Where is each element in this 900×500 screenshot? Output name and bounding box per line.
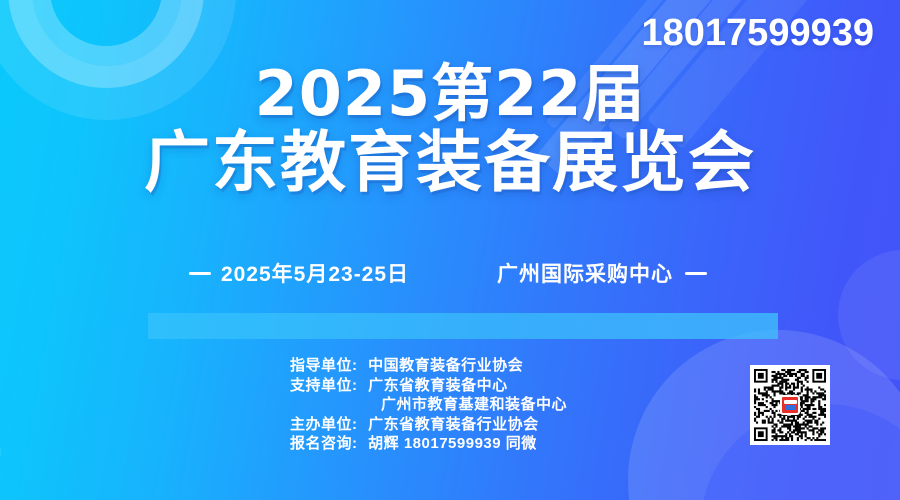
info-value: 广东省教育装备行业协会	[368, 415, 539, 435]
info-value: 广东省教育装备中心	[368, 376, 508, 396]
info-line-guidance: 指导单位: 中国教育装备行业协会	[290, 356, 567, 376]
info-label: 报名咨询:	[290, 434, 358, 454]
qr-code[interactable]	[750, 365, 830, 445]
dash-right-icon	[685, 272, 707, 275]
info-line-support-2: 广州市教育基建和装备中心	[290, 395, 567, 415]
info-line-support: 支持单位: 广东省教育装备中心	[290, 376, 567, 396]
info-label: 支持单位:	[290, 376, 358, 396]
event-poster: 18017599939 2025第22届 广东教育装备展览会 2025年5月23…	[0, 0, 900, 500]
decor-cyan-band	[148, 313, 778, 339]
poster-title: 2025第22届 广东教育装备展览会	[0, 62, 900, 200]
dash-right-wrap	[685, 261, 711, 285]
title-line-name: 广东教育装备展览会	[0, 126, 900, 200]
info-label: 指导单位:	[290, 356, 358, 376]
event-venue: 广州国际采购中心	[497, 258, 673, 288]
event-date: 2025年5月23-25日	[221, 258, 409, 288]
info-value: 广州市教育基建和装备中心	[381, 395, 567, 415]
event-meta-row: 2025年5月23-25日 广州国际采购中心	[0, 258, 900, 288]
dash-left-icon	[189, 272, 211, 275]
info-line-registration: 报名咨询: 胡辉 18017599939 同微	[290, 434, 567, 454]
title-line-edition: 2025第22届	[0, 62, 900, 126]
decor-capsule-bottom-left	[0, 408, 13, 500]
info-value: 胡辉 18017599939 同微	[368, 434, 537, 454]
info-label: 主办单位:	[290, 415, 358, 435]
info-value: 中国教育装备行业协会	[368, 356, 523, 376]
contact-phone-top: 18017599939	[642, 14, 874, 52]
qr-center-logo-icon	[780, 395, 800, 415]
info-line-host: 主办单位: 广东省教育装备行业协会	[290, 415, 567, 435]
organizer-info-block: 指导单位: 中国教育装备行业协会 支持单位: 广东省教育装备中心 广州市教育基建…	[290, 356, 567, 454]
